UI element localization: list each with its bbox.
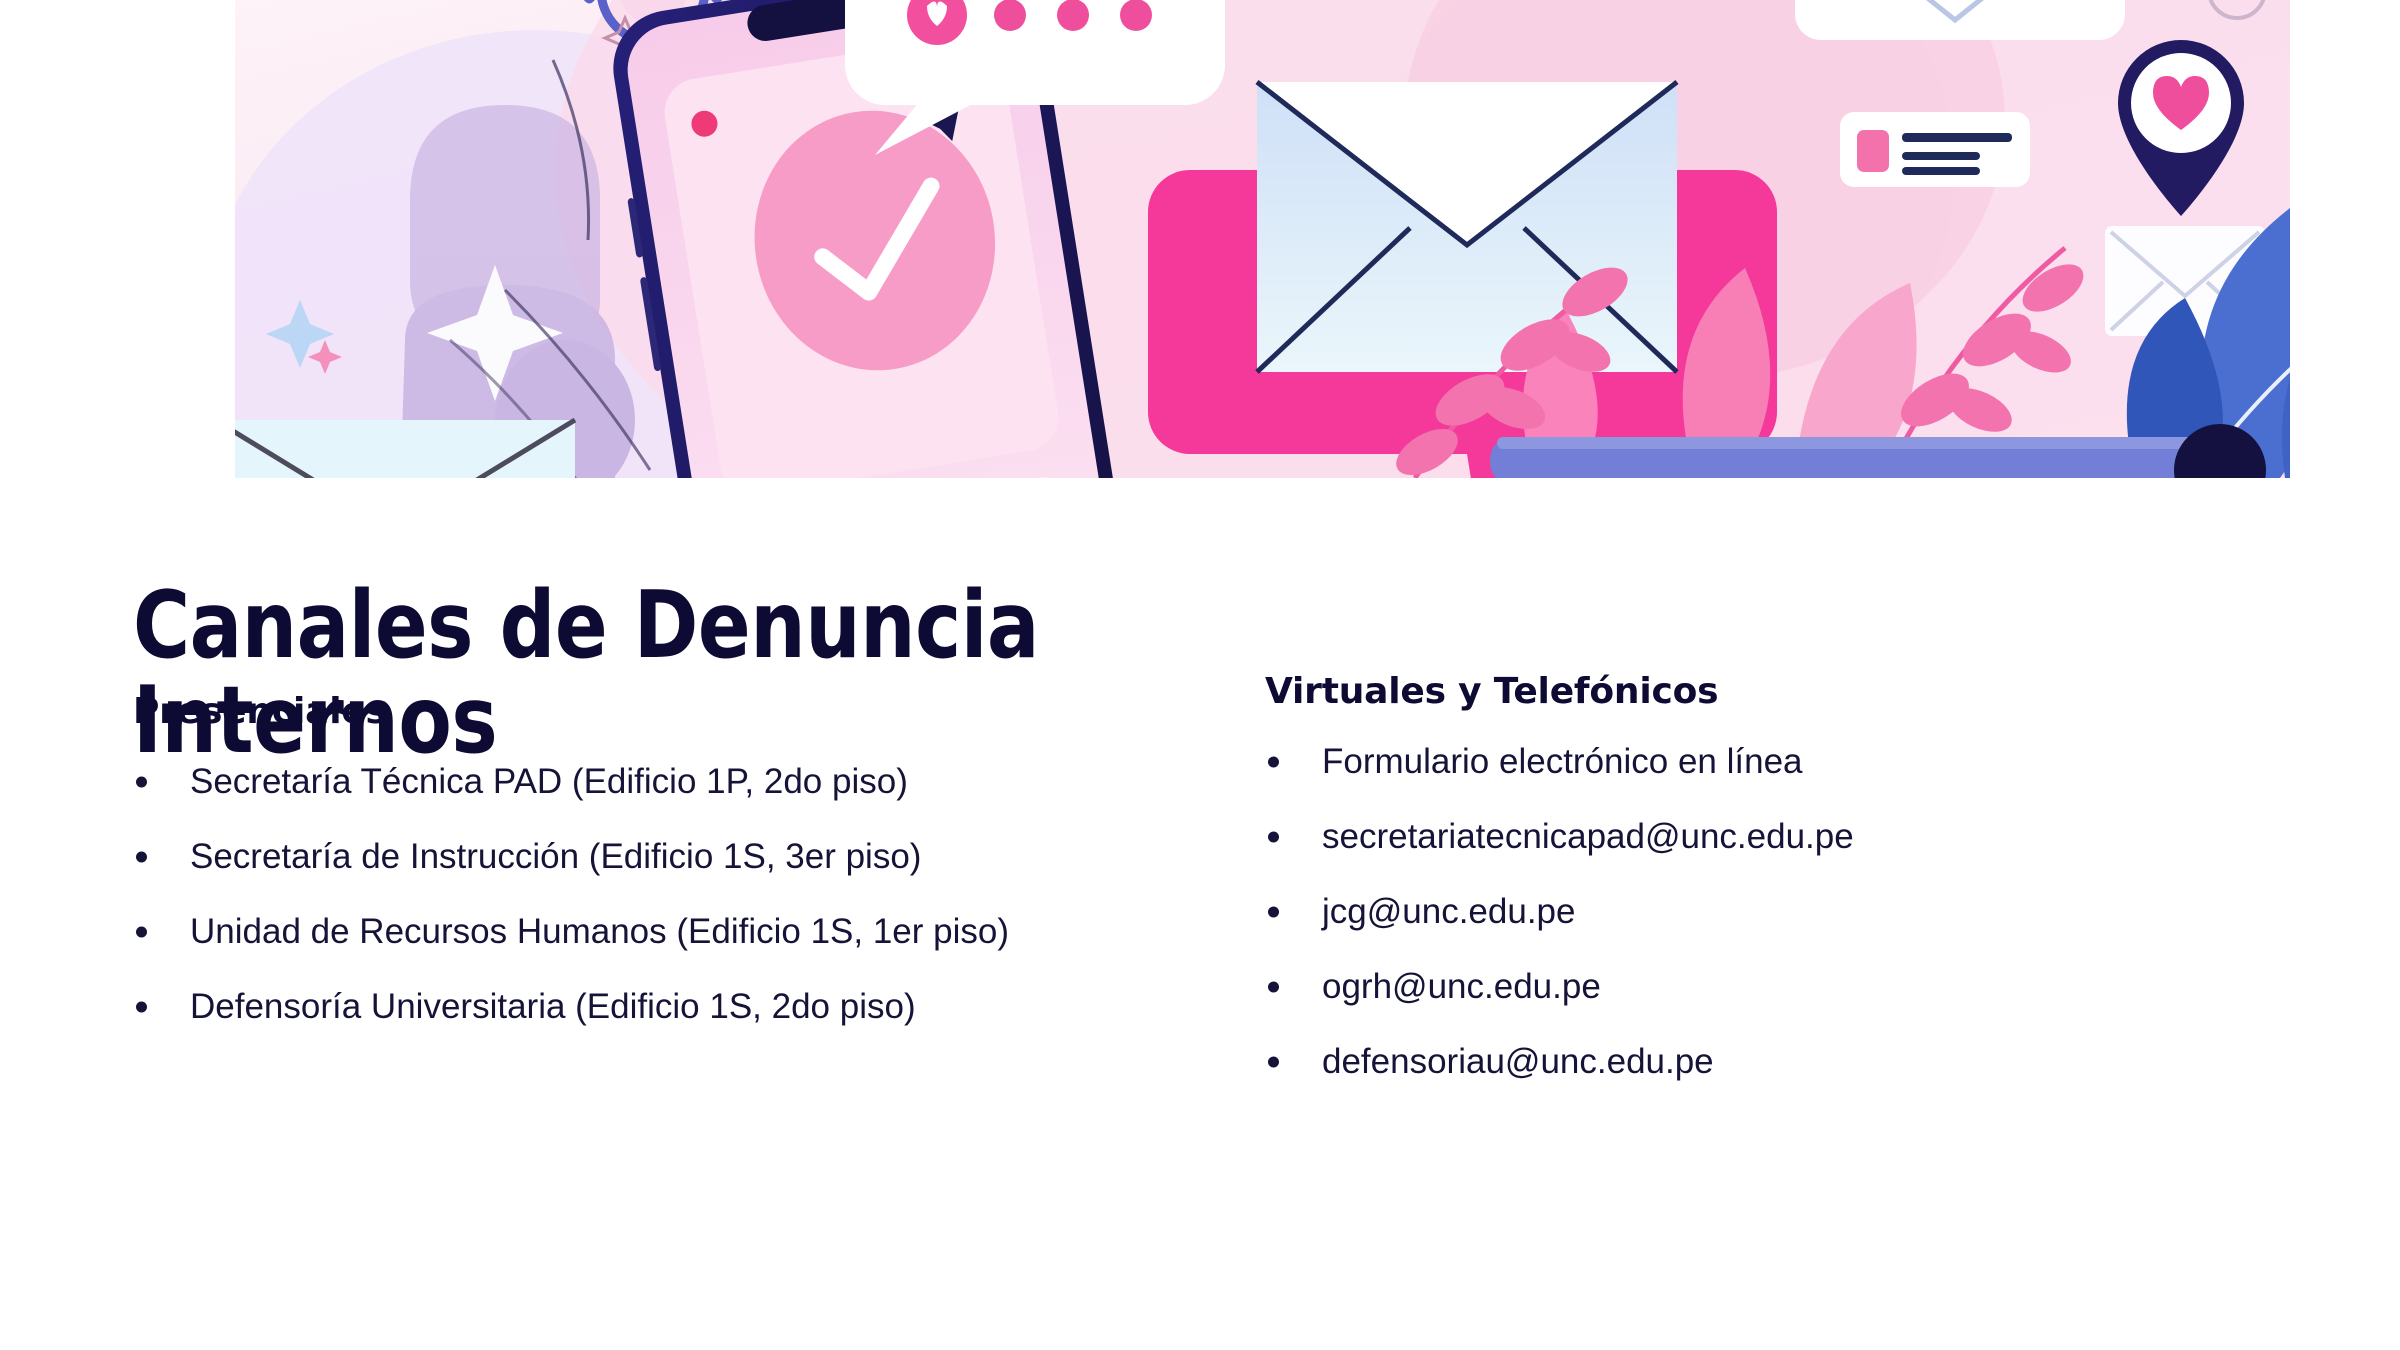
bullet-icon	[136, 851, 147, 862]
column-heading-presenciales: Presenciales	[133, 691, 1223, 732]
list-item-label: Unidad de Recursos Humanos (Edificio 1S,…	[190, 912, 1009, 951]
bullet-icon	[1268, 906, 1279, 917]
column-virtuales-telefonicos: Virtuales y Telefónicos Formulario elect…	[1265, 671, 2265, 1119]
hero-illustration-svg	[235, 0, 2290, 478]
list-item: defensoriau@unc.edu.pe	[1265, 1044, 2265, 1079]
list-item-label: Formulario electrónico en línea	[1322, 742, 1803, 781]
list-item: secretariatecnicapad@unc.edu.pe	[1265, 819, 2265, 854]
list-item: Secretaría Técnica PAD (Edificio 1P, 2do…	[133, 764, 1223, 799]
bullet-icon	[136, 926, 147, 937]
list-item: ogrh@unc.edu.pe	[1265, 969, 2265, 1004]
bullet-icon	[1268, 981, 1279, 992]
list-item-label: jcg@unc.edu.pe	[1322, 892, 1575, 931]
list-item-label: Secretaría Técnica PAD (Edificio 1P, 2do…	[190, 762, 908, 801]
slide-body: Canales de Denuncia Internos Presenciale…	[0, 478, 2400, 1350]
hero-illustration	[235, 0, 2290, 478]
list-item-label: Defensoría Universitaria (Edificio 1S, 2…	[190, 987, 916, 1026]
envelope-cut	[235, 420, 575, 478]
bullet-icon	[1268, 831, 1279, 842]
column-presenciales: Presenciales Secretaría Técnica PAD (Edi…	[133, 691, 1223, 1024]
message-card	[1795, 0, 2125, 40]
presenciales-list: Secretaría Técnica PAD (Edificio 1P, 2do…	[133, 764, 1223, 1024]
list-item-label: defensoriau@unc.edu.pe	[1322, 1042, 1714, 1081]
list-item-label: Secretaría de Instrucción (Edificio 1S, …	[190, 837, 921, 876]
bullet-icon	[136, 1001, 147, 1012]
bullet-icon	[1268, 1056, 1279, 1067]
list-item: Formulario electrónico en línea	[1265, 744, 2265, 779]
list-item: jcg@unc.edu.pe	[1265, 894, 2265, 929]
illustration-scene	[235, 0, 2290, 478]
column-heading-virtuales: Virtuales y Telefónicos	[1265, 671, 2265, 712]
bullet-icon	[136, 776, 147, 787]
bullet-icon	[1268, 756, 1279, 767]
list-item: Defensoría Universitaria (Edificio 1S, 2…	[133, 989, 1223, 1024]
list-item: Secretaría de Instrucción (Edificio 1S, …	[133, 839, 1223, 874]
list-item-label: ogrh@unc.edu.pe	[1322, 967, 1601, 1006]
virtuales-list: Formulario electrónico en línea secretar…	[1265, 744, 2265, 1079]
list-item: Unidad de Recursos Humanos (Edificio 1S,…	[133, 914, 1223, 949]
list-item-label: secretariatecnicapad@unc.edu.pe	[1322, 817, 1854, 856]
notification-card	[1840, 112, 2030, 187]
